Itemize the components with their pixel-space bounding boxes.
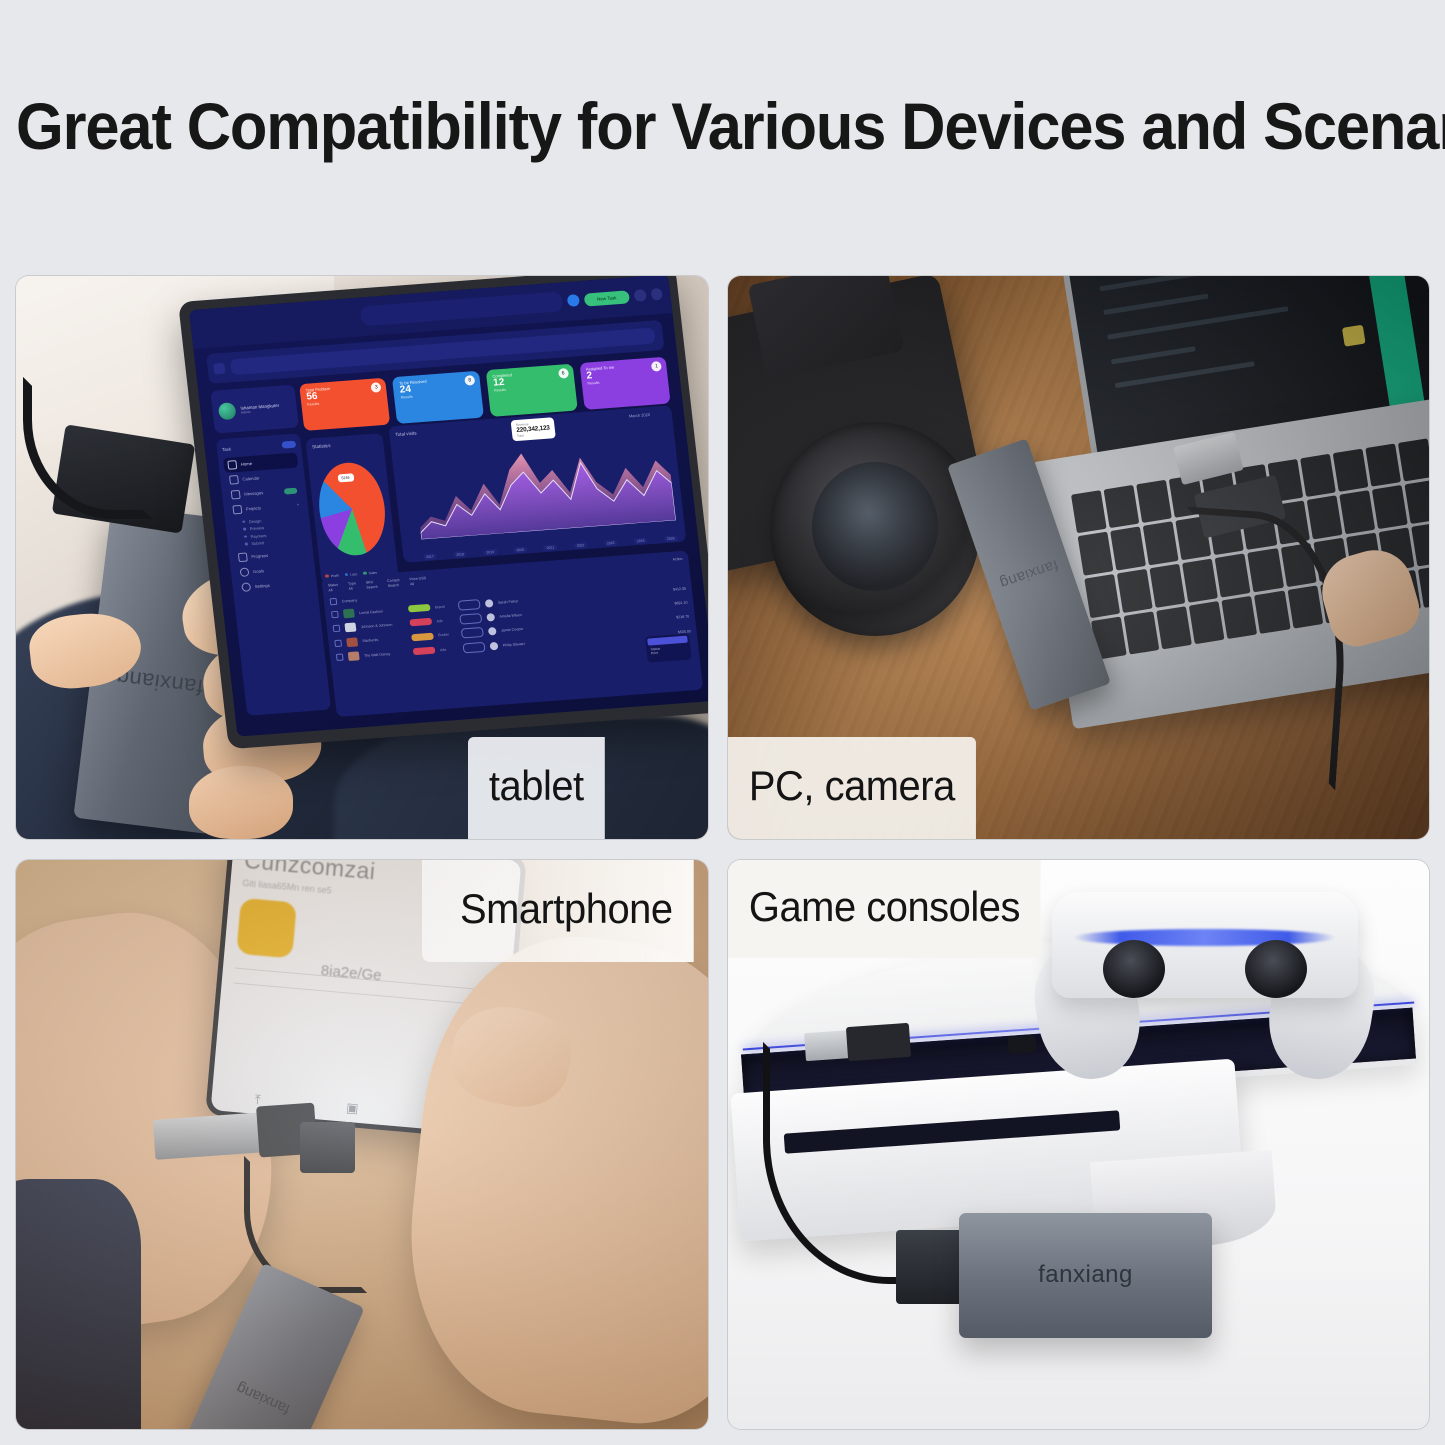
stat-card-badge: 8: [464, 374, 475, 385]
x-tick: 2017: [423, 553, 437, 560]
projects-icon: [232, 505, 242, 515]
select-all-checkbox[interactable]: [329, 598, 337, 605]
contact-name: Sarah Fisher: [498, 596, 548, 604]
phone-icon[interactable]: [567, 294, 580, 307]
dashboard-search-input[interactable]: [360, 291, 564, 326]
type-label: Ads: [436, 618, 454, 623]
contact-avatar: [488, 627, 497, 636]
tablet-screen: New Task Total Problem 56: [189, 276, 708, 737]
left-stick: [1103, 940, 1165, 998]
x-tick: 2024: [633, 537, 647, 544]
contact-name: Philip Stewart: [502, 639, 552, 647]
row-checkbox[interactable]: [331, 610, 339, 617]
company-name: Loreal Fashion: [359, 607, 403, 614]
stat-card-badge: 3: [371, 381, 382, 392]
contact-name: Jamie Cooper: [501, 625, 551, 633]
new-task-button[interactable]: New Task: [584, 290, 630, 306]
chevron-up-icon: ^: [296, 502, 298, 507]
sidebar-header: Task: [221, 440, 296, 453]
sidebar-item-label: Settings: [254, 582, 270, 588]
stat-card-total-problem[interactable]: Total Problem 56 Results 3: [299, 377, 391, 430]
type-label: Brand: [435, 603, 453, 608]
total-visits-card: Total visits March 2020: [388, 405, 686, 563]
company-logo: [344, 623, 356, 633]
price-value: $691.10: [674, 600, 687, 605]
price-value: $218.70: [676, 614, 689, 619]
caption-pc-camera: PC, camera: [728, 737, 976, 839]
home-icon: [227, 460, 237, 470]
sidebar-item-label: Progress: [251, 552, 268, 558]
status-badge: [412, 646, 435, 655]
sidebar-header-pill[interactable]: [281, 440, 296, 448]
panel-smartphone[interactable]: Cunzcomzai Giti liasa65Mn ren se5 8ia2e/…: [16, 860, 708, 1429]
x-tick: 2019: [483, 548, 497, 555]
panel-tablet[interactable]: fanxiang New Task: [16, 276, 708, 839]
sku-pill: [459, 613, 482, 625]
month-selector[interactable]: March 2020: [628, 412, 650, 419]
chart-tooltip: Revenue 220,342,123 Total: [510, 417, 556, 441]
status-badge: [408, 604, 431, 613]
type-label: Broker: [438, 632, 456, 637]
x-tick: 2020: [513, 546, 527, 553]
status-badge: [409, 618, 432, 627]
message-icon: [231, 490, 241, 500]
caption-game-consoles: Game consoles: [728, 860, 1041, 958]
caption-tablet: tablet: [468, 737, 605, 839]
ssd-device: fanxiang: [959, 1213, 1211, 1338]
gear-icon: [241, 582, 251, 592]
stat-card-completed[interactable]: Completed 12 Results 6: [486, 363, 578, 416]
price-value: $412.35: [673, 586, 686, 591]
compatibility-grid: fanxiang New Task: [16, 276, 1429, 1429]
progress-icon: [238, 552, 248, 562]
brand-label: fanxiang: [1038, 1261, 1133, 1289]
notification-icon[interactable]: [633, 289, 646, 302]
stat-card-to-be-resolved[interactable]: To be Resolved 24 Results 8: [392, 370, 484, 423]
filter-status[interactable]: StatusAll: [328, 582, 339, 592]
caption-smartphone: Smartphone: [422, 860, 694, 962]
x-tick: 2022: [573, 542, 587, 549]
company-logo: [343, 608, 355, 618]
game-controller: [1022, 871, 1387, 1042]
contact-avatar: [489, 641, 498, 650]
company-name: The Walt Disney: [364, 650, 408, 657]
company-name: Starbucks: [362, 636, 406, 643]
panel-pc-camera[interactable]: fanxiang PC, camera: [728, 276, 1429, 839]
sku-pill: [461, 627, 484, 639]
stat-card-badge: 1: [651, 360, 662, 371]
page-title: Great Compatibility for Various Devices …: [16, 66, 1337, 186]
sidebar-item-label: Calendar: [242, 475, 260, 481]
sidebar-subitem-label: Payment: [250, 532, 266, 538]
sidebar-item-label: Goals: [253, 568, 264, 574]
company-logo: [346, 637, 358, 647]
stat-card-badge: 6: [557, 367, 568, 378]
panel-game-consoles[interactable]: fanxiang Game consoles: [728, 860, 1429, 1429]
status-badge: [411, 632, 434, 641]
x-tick: 2023: [603, 539, 617, 546]
dashboard-sidebar: Ishaman Mangkuter Admin Task: [210, 384, 332, 723]
area-chart: [411, 436, 675, 540]
sku-pill: [457, 598, 480, 610]
stat-card-assigned-to-me[interactable]: Assigned To me 2 Results 1: [579, 356, 671, 409]
filter-contact[interactable]: ContactSearch: [387, 578, 400, 588]
sidebar-item-label: Home: [240, 461, 252, 467]
sidebar-subitem-label: Design: [248, 518, 261, 524]
row-checkbox[interactable]: [332, 625, 340, 632]
company-name: Johnson & Johnson: [360, 621, 404, 628]
type-label: Ads: [440, 646, 458, 651]
row-checkbox[interactable]: [334, 639, 342, 646]
sidebar-header-label: Task: [222, 446, 232, 452]
x-tick: 2018: [453, 551, 467, 558]
filter-sku[interactable]: SKUSearch: [365, 579, 377, 589]
table-action-button[interactable]: Action: [672, 556, 683, 566]
contact-name: Amelia Wilson: [499, 610, 549, 618]
sku-pill: [462, 641, 485, 653]
menu-item-edit[interactable]: [647, 635, 688, 645]
sidebar-item-label: Messages: [244, 490, 264, 496]
sidebar-subitem-label: Preview: [249, 525, 264, 531]
filter-price[interactable]: Price USDAll: [409, 576, 427, 586]
goals-icon: [239, 567, 249, 577]
contact-avatar: [484, 598, 493, 607]
calendar-icon: [229, 475, 239, 485]
pie-tooltip: 5246: [337, 473, 354, 482]
statistics-card: Statistics 5246 Profit Loss Sales: [305, 433, 398, 584]
tablet-device: New Task Total Problem 56: [178, 276, 708, 749]
contact-avatar: [486, 613, 495, 622]
companies-table: StatusAll TypeAll SKUSearch ContactSearc…: [321, 550, 703, 716]
column-header-company: Company: [341, 595, 385, 602]
row-context-menu[interactable]: Status Print: [645, 633, 692, 662]
row-checkbox[interactable]: [336, 653, 344, 660]
filter-type[interactable]: TypeAll: [348, 581, 357, 591]
statistics-title: Statistics: [312, 440, 377, 450]
x-tick: 2021: [543, 544, 557, 551]
dashboard-app: New Task Total Problem 56: [189, 276, 708, 737]
sidebar-item-label: Projects: [245, 505, 261, 511]
menu-icon[interactable]: [213, 362, 225, 374]
sidebar-subitem-label: Submit: [251, 540, 264, 546]
unread-badge: [284, 487, 298, 494]
user-card[interactable]: Ishaman Mangkuter Admin: [210, 384, 299, 434]
right-stick: [1245, 940, 1307, 998]
settings-icon[interactable]: [650, 288, 663, 301]
company-logo: [347, 651, 359, 661]
x-tick: 2025: [664, 535, 678, 542]
avatar: [218, 402, 237, 420]
